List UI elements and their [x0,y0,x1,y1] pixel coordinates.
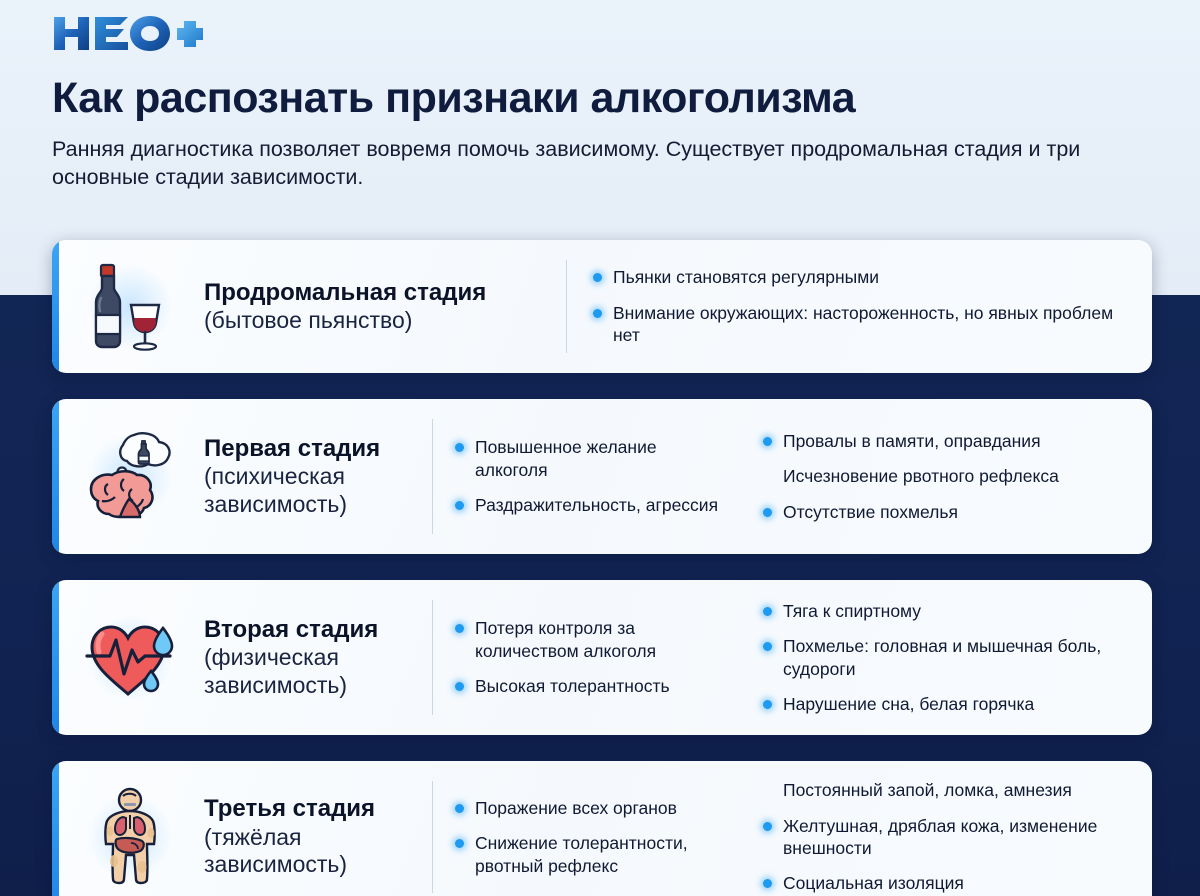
bullet-dot-icon [593,273,602,282]
list-item: Повышенное желание алкоголя [455,436,725,481]
list-item: Раздражительность, агрессия [455,494,725,516]
symptom-column: Постоянный запой, ломка, амнезия Желтушн… [741,779,1134,895]
list-item: Социальная изоляция [763,872,1118,894]
symptom-column: Провалы в памяти, оправдания Исчезновени… [741,430,1134,523]
list-item-label: Пьянки становятся регулярными [613,266,1118,288]
page-title: Как распознать признаки алкоголизма [52,76,1162,122]
stage-name: Первая стадия [204,435,432,463]
list-item-label: Желтушная, дряблая кожа, изменение внешн… [783,815,1118,860]
list-item-label: Исчезновение рвотного рефлекса [783,465,1118,487]
bullet-dot-icon [763,437,772,446]
human-body-organs-icon [78,785,182,889]
bullet-dot-icon [763,508,772,517]
list-item: Внимание окружающих: настороженность, но… [593,302,1118,347]
list-item-label: Постоянный запой, ломка, амнезия [783,779,1118,801]
symptom-column: Поражение всех органов Снижение толерант… [433,797,741,877]
wine-bottle-and-glass-icon [78,255,182,359]
bullet-dot-icon [455,839,464,848]
list-item: Желтушная, дряблая кожа, изменение внешн… [763,815,1118,860]
list-item-label: Снижение толерантности, рвотный рефлекс [475,832,725,877]
bullet-dot-icon [763,472,772,481]
list-item: Провалы в памяти, оправдания [763,430,1118,452]
symptom-column: Повышенное желание алкоголя Раздражитель… [433,436,741,516]
stage-card-first[interactable]: Первая стадия (психическая зависимость) … [52,399,1152,554]
stage-header: Продромальная стадия (бытовое пьянство) [52,240,566,373]
bullet-dot-icon [763,786,772,795]
stage-text: Продромальная стадия (бытовое пьянство) [204,279,486,335]
stage-header: Третья стадия (тяжёлая зависимость) [52,761,432,896]
symptom-columns: Повышенное желание алкоголя Раздражитель… [433,399,1152,554]
stage-card-third[interactable]: Третья стадия (тяжёлая зависимость) Пора… [52,761,1152,896]
stage-subtitle: (тяжёлая зависимость) [204,824,432,879]
stage-text: Третья стадия (тяжёлая зависимость) [204,795,432,879]
list-item: Пьянки становятся регулярными [593,266,1118,288]
brain-with-bottle-thought-icon [78,425,182,529]
stage-subtitle: (физическая зависимость) [204,644,432,699]
list-item-label: Потеря контроля за количеством алкоголя [475,617,725,662]
stage-subtitle: (бытовое пьянство) [204,307,486,335]
list-item-label: Тяга к спиртному [783,600,1118,622]
list-item-label: Поражение всех органов [475,797,725,819]
stage-subtitle: (психическая зависимость) [204,463,432,518]
list-item: Похмелье: головная и мышечная боль, судо… [763,635,1118,680]
symptom-column: Пьянки становятся регулярными Внимание о… [567,266,1134,346]
list-item-label: Раздражительность, агрессия [475,494,725,516]
bullet-dot-icon [763,607,772,616]
bullet-dot-icon [455,682,464,691]
stage-text: Первая стадия (психическая зависимость) [204,435,432,519]
stage-header: Первая стадия (психическая зависимость) [52,399,432,554]
list-item-label: Нарушение сна, белая горячка [783,693,1118,715]
heart-with-pulse-icon [78,606,182,710]
stage-header: Вторая стадия (физическая зависимость) [52,580,432,735]
stage-card-second[interactable]: Вторая стадия (физическая зависимость) П… [52,580,1152,735]
symptom-columns: Пьянки становятся регулярными Внимание о… [567,240,1152,373]
symptom-columns: Поражение всех органов Снижение толерант… [433,761,1152,896]
stage-text: Вторая стадия (физическая зависимость) [204,616,432,700]
symptom-column: Тяга к спиртному Похмелье: головная и мы… [741,600,1134,716]
stage-card-prodromal[interactable]: Продромальная стадия (бытовое пьянство) … [52,240,1152,373]
bullet-dot-icon [455,443,464,452]
bullet-dot-icon [455,501,464,510]
bullet-dot-icon [593,309,602,318]
list-item: Тяга к спиртному [763,600,1118,622]
list-item: Поражение всех органов [455,797,725,819]
bullet-dot-icon [763,822,772,831]
bullet-dot-icon [763,700,772,709]
bullet-dot-icon [455,624,464,633]
list-item-label: Высокая толерантность [475,675,725,697]
list-item-label: Внимание окружающих: настороженность, но… [613,302,1118,347]
list-item: Постоянный запой, ломка, амнезия [763,779,1118,801]
list-item: Высокая толерантность [455,675,725,697]
list-item-label: Повышенное желание алкоголя [475,436,725,481]
bullet-dot-icon [455,804,464,813]
list-item: Снижение толерантности, рвотный рефлекс [455,832,725,877]
list-item: Потеря контроля за количеством алкоголя [455,617,725,662]
list-item-label: Социальная изоляция [783,872,1118,894]
list-item-label: Провалы в памяти, оправдания [783,430,1118,452]
symptom-columns: Потеря контроля за количеством алкоголя … [433,580,1152,735]
list-item: Исчезновение рвотного рефлекса [763,465,1118,487]
list-item: Нарушение сна, белая горячка [763,693,1118,715]
page-subtitle: Ранняя диагностика позволяет вовремя пом… [52,135,1082,192]
bullet-dot-icon [763,642,772,651]
list-item-label: Отсутствие похмелья [783,501,1118,523]
bullet-dot-icon [763,879,772,888]
stage-name: Вторая стадия [204,616,432,644]
symptom-column: Потеря контроля за количеством алкоголя … [433,617,741,697]
header: Как распознать признаки алкоголизма Ранн… [52,12,1162,192]
brand-logo [52,12,1162,54]
list-item: Отсутствие похмелья [763,501,1118,523]
stage-card-list: Продромальная стадия (бытовое пьянство) … [52,240,1152,896]
stage-name: Третья стадия [204,795,432,823]
list-item-label: Похмелье: головная и мышечная боль, судо… [783,635,1118,680]
stage-name: Продромальная стадия [204,279,486,307]
